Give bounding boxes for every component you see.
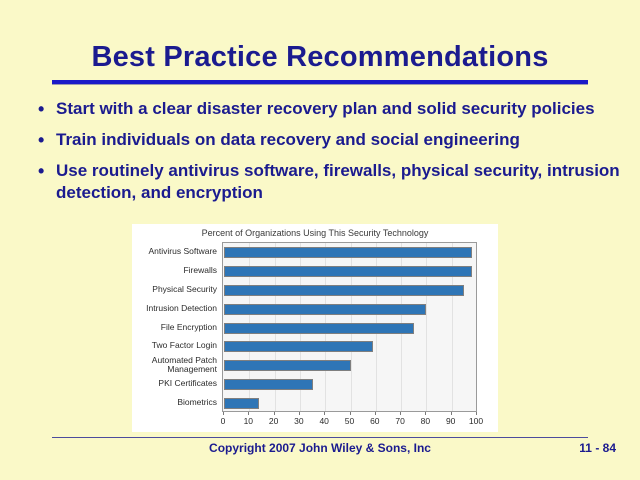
chart-plot-wrapper: Antivirus SoftwareFirewallsPhysical Secu… — [132, 242, 498, 432]
bullet-list: • Start with a clear disaster recovery p… — [38, 98, 623, 213]
chart-category-label: Two Factor Login — [131, 341, 217, 350]
chart-panel: Percent of Organizations Using This Secu… — [132, 224, 498, 432]
chart-category-label: PKI Certificates — [131, 379, 217, 388]
chart-category-label: Antivirus Software — [131, 247, 217, 256]
chart-category-label: Physical Security — [131, 285, 217, 294]
bullet-text: Train individuals on data recovery and s… — [56, 129, 623, 151]
chart-bar — [224, 323, 414, 334]
chart-category-label: Firewalls — [131, 266, 217, 275]
axis-tick-label: 30 — [294, 416, 303, 426]
chart-bar — [224, 398, 259, 409]
axis-tick-mark — [400, 412, 401, 415]
axis-tick-mark — [425, 412, 426, 415]
bullet-dot-icon: • — [38, 129, 56, 151]
axis-tick-mark — [476, 412, 477, 415]
bullet-text: Start with a clear disaster recovery pla… — [56, 98, 623, 120]
axis-tick-mark — [451, 412, 452, 415]
footer-page-number: 11 - 84 — [579, 441, 616, 455]
list-item: • Start with a clear disaster recovery p… — [38, 98, 623, 120]
chart-category-label: Biometrics — [131, 398, 217, 407]
chart-bar — [224, 379, 313, 390]
axis-tick-label: 100 — [469, 416, 483, 426]
chart-category-label: Intrusion Detection — [131, 304, 217, 313]
title-block: Best Practice Recommendations — [0, 40, 640, 74]
axis-tick-label: 20 — [269, 416, 278, 426]
title-divider — [52, 80, 588, 85]
chart-bar — [224, 247, 472, 258]
axis-tick-label: 10 — [244, 416, 253, 426]
chart-bar — [224, 266, 472, 277]
bullet-dot-icon: • — [38, 160, 56, 182]
chart-bar — [224, 285, 464, 296]
axis-tick-mark — [274, 412, 275, 415]
axis-tick-label: 60 — [370, 416, 379, 426]
axis-tick-label: 90 — [446, 416, 455, 426]
axis-tick-label: 50 — [345, 416, 354, 426]
axis-tick-mark — [350, 412, 351, 415]
axis-tick-mark — [299, 412, 300, 415]
chart-bar — [224, 360, 351, 371]
chart-bar — [224, 341, 373, 352]
slide: Best Practice Recommendations • Start wi… — [0, 0, 640, 480]
chart-plot-area — [222, 242, 477, 412]
bullet-text: Use routinely antivirus software, firewa… — [56, 160, 623, 204]
chart-category-label: Automated PatchManagement — [131, 356, 217, 374]
axis-tick-label: 40 — [319, 416, 328, 426]
footer-divider — [52, 437, 588, 438]
list-item: • Train individuals on data recovery and… — [38, 129, 623, 151]
axis-tick-mark — [324, 412, 325, 415]
axis-tick-label: 0 — [221, 416, 226, 426]
chart-value-axis: 0102030405060708090100 — [222, 412, 477, 428]
axis-tick-label: 80 — [421, 416, 430, 426]
chart-category-label: File Encryption — [131, 323, 217, 332]
axis-tick-mark — [375, 412, 376, 415]
page-title: Best Practice Recommendations — [0, 40, 640, 74]
chart-category-axis: Antivirus SoftwareFirewallsPhysical Secu… — [132, 242, 220, 412]
chart-bar — [224, 304, 426, 315]
footer-copyright: Copyright 2007 John Wiley & Sons, Inc — [0, 441, 640, 455]
axis-tick-label: 70 — [395, 416, 404, 426]
axis-tick-mark — [223, 412, 224, 415]
chart-title: Percent of Organizations Using This Secu… — [132, 228, 498, 238]
list-item: • Use routinely antivirus software, fire… — [38, 160, 623, 204]
axis-tick-mark — [248, 412, 249, 415]
bullet-dot-icon: • — [38, 98, 56, 120]
